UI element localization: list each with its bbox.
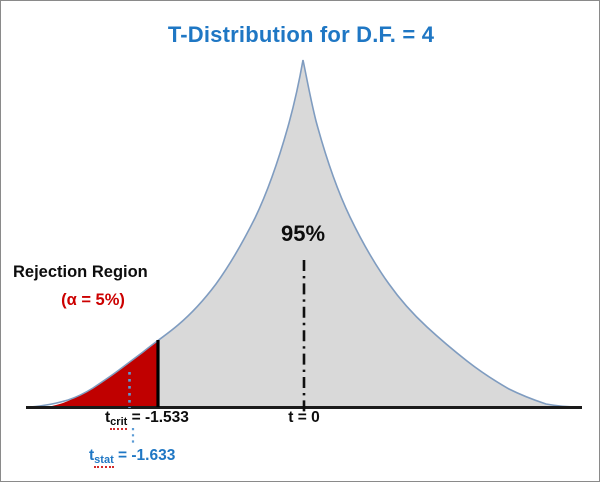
acceptance-region-area bbox=[158, 60, 581, 407]
rejection-region-label: Rejection Region bbox=[13, 264, 148, 281]
t-critical-value: = -1.533 bbox=[127, 409, 189, 426]
alpha-level-label: (α = 5%) bbox=[13, 292, 173, 309]
t-critical-label: tcrit = -1.533 bbox=[105, 410, 189, 426]
rejection-region-area bbox=[46, 341, 158, 408]
page-title: T-Distribution for D.F. = 4 bbox=[1, 23, 600, 46]
t-statistic-subscript: stat bbox=[94, 454, 114, 468]
confidence-level-label: 95% bbox=[263, 222, 343, 245]
t-statistic-label: tstat = -1.633 bbox=[89, 448, 175, 464]
t-critical-subscript: crit bbox=[110, 416, 127, 430]
t-distribution-figure: T-Distribution for D.F. = 4 Rejection Re… bbox=[0, 0, 600, 482]
t-zero-label: t = 0 bbox=[269, 410, 339, 426]
t-statistic-value: = -1.633 bbox=[114, 447, 176, 464]
